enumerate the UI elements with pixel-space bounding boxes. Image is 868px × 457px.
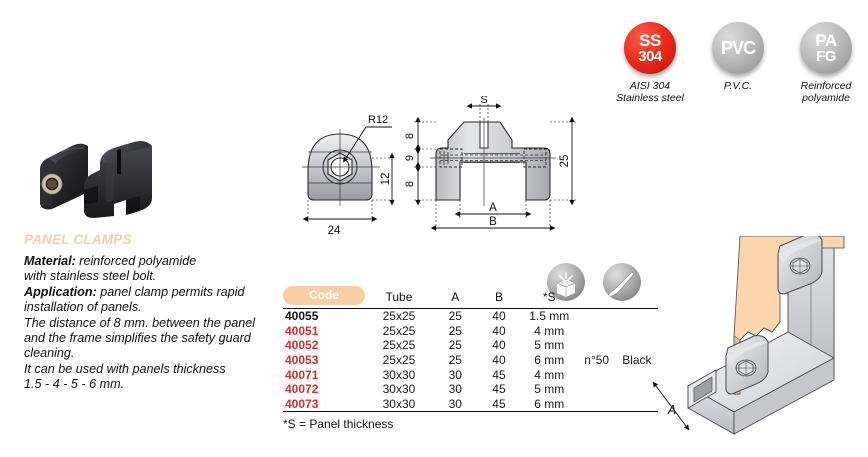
- header-s: *S: [521, 286, 578, 309]
- cell-a: 30: [433, 397, 477, 412]
- material-badge-pa-fg: PA FG Reinforced polyamide: [790, 22, 862, 122]
- desc-text: 1.5 - 4 - 5 - 6 mm.: [24, 377, 124, 391]
- desc-line: cleaning.: [24, 346, 276, 361]
- cell-code: 40073: [283, 397, 365, 412]
- desc-line: installation of panels.: [24, 300, 276, 315]
- cell-a: 30: [433, 367, 477, 382]
- cell-tube: 30x30: [365, 397, 434, 412]
- table-row: 40055 25x25 25 40 1.5 mm n°50 Black: [283, 309, 658, 324]
- description-text: Material: reinforced polyamide with stai…: [24, 254, 276, 393]
- cell-code: 40051: [283, 324, 365, 339]
- dim-bottom: 8: [404, 181, 416, 187]
- header-a: A: [433, 286, 477, 309]
- dim-width: 24: [328, 225, 341, 237]
- cell-s: 6 mm: [521, 397, 578, 412]
- cell-code: 40053: [283, 353, 365, 368]
- dim-top: 8: [404, 133, 416, 139]
- badge-caption: P.V.C.: [702, 80, 774, 92]
- cell-s: 6 mm: [521, 353, 578, 368]
- desc-label: Application:: [24, 285, 97, 299]
- desc-label: Material:: [24, 254, 76, 268]
- assembly-dimension-a: A: [656, 386, 686, 426]
- cell-s: 4 mm: [521, 367, 578, 382]
- cell-packaging: n°50: [578, 309, 616, 412]
- dim-assembly-a: A: [667, 403, 676, 417]
- desc-line: 1.5 - 4 - 5 - 6 mm.: [24, 377, 276, 392]
- desc-text: The distance of 8 mm. between the panel: [24, 316, 255, 330]
- badge-caption: Reinforced polyamide: [790, 80, 862, 105]
- dim-radius: R12: [368, 114, 388, 126]
- pafg-icon: PA FG: [800, 22, 852, 74]
- dim-total-height: 25: [559, 155, 571, 168]
- badge-caption-line2: Stainless steel: [614, 92, 686, 104]
- cell-tube: 30x30: [365, 367, 434, 382]
- cell-tube: 25x25: [365, 338, 434, 353]
- table-header-code: Code: [283, 286, 365, 305]
- desc-text: panel clamp permits rapid: [97, 285, 245, 299]
- cell-code: 40055: [283, 309, 365, 324]
- badge-line2: FG: [816, 49, 836, 64]
- desc-text: cleaning.: [24, 346, 74, 360]
- cell-s: 5 mm: [521, 382, 578, 397]
- cell-s: 4 mm: [521, 324, 578, 339]
- front-view: R12 24 12: [302, 114, 396, 237]
- cell-b: 40: [477, 309, 521, 324]
- cell-a: 25: [433, 309, 477, 324]
- assembly-drawing: A: [648, 236, 868, 452]
- material-badges: SS 304 AISI 304 Stainless steel PVC P.V.…: [614, 22, 862, 122]
- cell-a: 30: [433, 382, 477, 397]
- cell-a: 25: [433, 353, 477, 368]
- badge-caption-line1: AISI 304: [614, 80, 686, 92]
- cell-b: 40: [477, 353, 521, 368]
- cell-b: 40: [477, 338, 521, 353]
- clamp-part-left: [40, 144, 88, 210]
- dim-height: 12: [380, 173, 392, 186]
- dim-a: A: [489, 202, 497, 214]
- section-view: S 8 9 8 25 A B: [404, 96, 578, 232]
- cell-s: 5 mm: [521, 338, 578, 353]
- clamp-part-right: [84, 141, 152, 218]
- ss304-icon: SS 304: [624, 22, 676, 74]
- table-footnote: *S = Panel thickness: [283, 417, 658, 431]
- desc-text: installation of panels.: [24, 300, 142, 314]
- dim-slot: S: [480, 96, 487, 106]
- cell-a: 25: [433, 338, 477, 353]
- desc-line: and the frame simplifies the safety guar…: [24, 331, 276, 346]
- product-photo: [22, 112, 202, 224]
- desc-text: reinforced polyamide: [76, 254, 196, 268]
- badge-line1: SS: [639, 32, 661, 49]
- cell-tube: 30x30: [365, 382, 434, 397]
- desc-line: with stainless steel bolt.: [24, 269, 276, 284]
- desc-text: and the frame simplifies the safety guar…: [24, 331, 251, 345]
- material-badge-ss304: SS 304 AISI 304 Stainless steel: [614, 22, 686, 122]
- cell-b: 45: [477, 367, 521, 382]
- badge-line2: 304: [638, 49, 662, 64]
- cell-tube: 25x25: [365, 309, 434, 324]
- desc-text: with stainless steel bolt.: [24, 269, 156, 283]
- cell-b: 40: [477, 324, 521, 339]
- desc-line: Application: panel clamp permits rapid: [24, 285, 276, 300]
- page-title: PANEL CLAMPS: [24, 232, 276, 247]
- cell-code: 40052: [283, 338, 365, 353]
- pvc-icon: PVC: [712, 22, 764, 74]
- cell-code: 40071: [283, 367, 365, 382]
- cell-b: 45: [477, 397, 521, 412]
- badge-caption: AISI 304 Stainless steel: [614, 80, 686, 105]
- dim-b: B: [489, 216, 497, 228]
- material-badge-pvc: PVC P.V.C.: [702, 22, 774, 122]
- header-b: B: [477, 286, 521, 309]
- cell-tube: 25x25: [365, 324, 434, 339]
- badge-caption-line1: P.V.C.: [702, 80, 774, 92]
- cell-tube: 25x25: [365, 353, 434, 368]
- cell-a: 25: [433, 324, 477, 339]
- cell-b: 45: [477, 382, 521, 397]
- description-block: PANEL CLAMPS Material: reinforced polyam…: [24, 232, 276, 393]
- badge-line1: PVC: [721, 39, 755, 57]
- technical-drawing: R12 24 12: [288, 96, 598, 241]
- dim-middle: 9: [404, 155, 416, 161]
- badge-caption-line1: Reinforced: [790, 80, 862, 92]
- header-tube: Tube: [365, 286, 434, 309]
- spec-table: Code Tube A B *S 40055 25x25 25 40 1.5 m…: [283, 286, 658, 431]
- badge-line1: PA: [815, 32, 836, 49]
- cell-code: 40072: [283, 382, 365, 397]
- desc-line: The distance of 8 mm. between the panel: [24, 316, 276, 331]
- desc-text: It can be used with panels thickness: [24, 362, 226, 376]
- desc-line: Material: reinforced polyamide: [24, 254, 276, 269]
- cell-s: 1.5 mm: [521, 309, 578, 324]
- badge-caption-line2: polyamide: [790, 92, 862, 104]
- desc-line: It can be used with panels thickness: [24, 362, 276, 377]
- header-pack: [578, 286, 616, 309]
